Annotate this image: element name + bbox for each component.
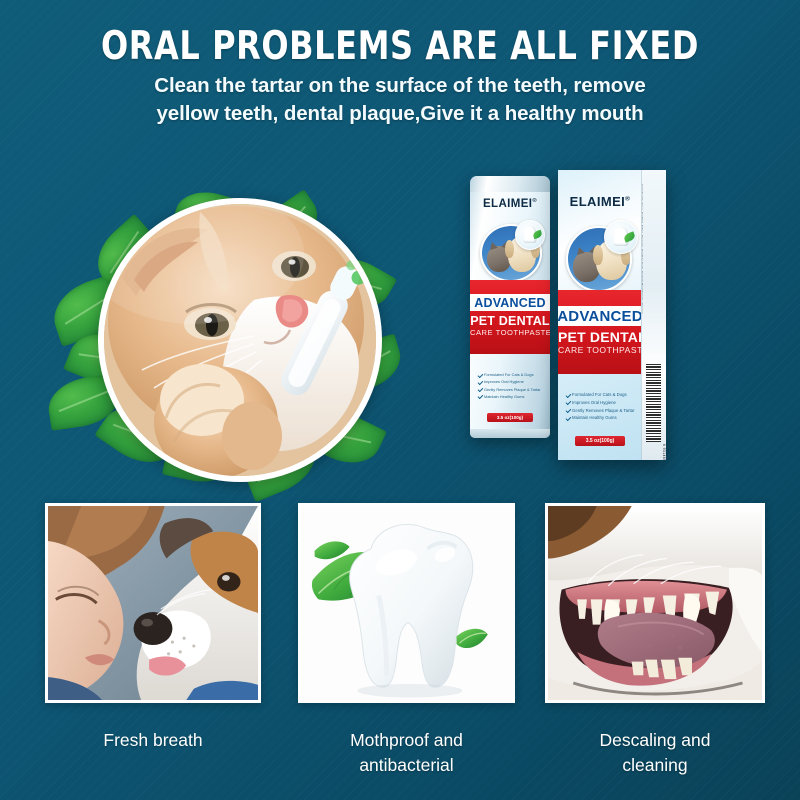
list-item: Improves Oral Hygiene bbox=[572, 400, 635, 406]
tube-benefit-list: Formulated For Cats & Dogs Improves Oral… bbox=[484, 372, 541, 401]
list-item: Gently Removes Plaque & Tartar bbox=[484, 387, 541, 392]
caption-line-1: Descaling and bbox=[600, 730, 711, 750]
box-benefit-list: Formulated For Cats & Dogs Improves Oral… bbox=[572, 392, 635, 423]
woman-and-dog-photo bbox=[48, 506, 258, 700]
box-headline: ADVANCED bbox=[558, 306, 642, 326]
cat-brushing-teeth-illustration bbox=[104, 204, 376, 476]
tube-crimp bbox=[470, 429, 550, 438]
tube-line-2: PET DENTAL bbox=[470, 314, 550, 328]
feature-panel-descaling bbox=[545, 503, 765, 703]
page-subtitle: Clean the tartar on the surface of the t… bbox=[0, 72, 800, 129]
product-marketing-image: ORAL PROBLEMS ARE ALL FIXED Clean the ta… bbox=[0, 0, 800, 800]
tube-cap bbox=[470, 176, 550, 192]
hero-cat-photo bbox=[98, 198, 382, 482]
caption-antibacterial: Mothproof and antibacterial bbox=[298, 728, 515, 778]
box-brand-logo: ELAIMEI® bbox=[558, 194, 642, 209]
page-title: ORAL PROBLEMS ARE ALL FIXED bbox=[12, 26, 788, 67]
tube-tooth-badge bbox=[515, 220, 545, 250]
tube-headline: ADVANCED bbox=[470, 294, 550, 311]
feature-panel-antibacterial bbox=[298, 503, 515, 703]
tube-brand-logo: ELAIMEI® bbox=[470, 198, 550, 210]
list-item: Improves Oral Hygiene bbox=[484, 379, 541, 384]
dog-ear-left bbox=[505, 240, 514, 258]
subtitle-line-1: Clean the tartar on the surface of the t… bbox=[0, 72, 800, 100]
tube-line-3: CARE TOOTHPASTE bbox=[470, 328, 550, 337]
subtitle-line-2: yellow teeth, dental plaque,Give it a he… bbox=[0, 100, 800, 128]
dog-ear-left bbox=[593, 245, 603, 265]
white-tooth-with-mint-leaves bbox=[301, 506, 512, 700]
caption-descaling: Descaling and cleaning bbox=[545, 728, 765, 778]
product-tube: ELAIMEI® ADVANCED PET DENTAL CARE TOOTHP… bbox=[470, 176, 550, 438]
feature-panel-fresh-breath bbox=[45, 503, 261, 703]
box-line-2: PET DENTAL bbox=[558, 329, 642, 345]
list-item: Maintain Healthy Gums bbox=[484, 394, 541, 399]
barcode-number: 6 931465 720194 bbox=[662, 444, 666, 460]
box-weight-badge: 3.5 oz(100g) bbox=[575, 436, 625, 446]
caption-line-1: Mothproof and bbox=[350, 730, 463, 750]
barcode-icon bbox=[646, 364, 661, 442]
caption-line-2: cleaning bbox=[622, 755, 687, 775]
box-side-face: Ingredients: Aqua, Sorbitol, Silica, Gly… bbox=[641, 170, 666, 460]
box-ingredients-text: Ingredients: Aqua, Sorbitol, Silica, Gly… bbox=[641, 184, 644, 334]
caption-line-1: Fresh breath bbox=[103, 730, 202, 750]
list-item: Maintain Healthy Gums bbox=[572, 415, 635, 421]
product-box: ELAIMEI® ADVANCED PET DENTAL CARE TOOTHP… bbox=[558, 170, 666, 460]
box-front-face: ELAIMEI® ADVANCED PET DENTAL CARE TOOTHP… bbox=[558, 170, 642, 460]
box-tooth-badge bbox=[604, 220, 638, 254]
caption-line-2: antibacterial bbox=[359, 755, 453, 775]
dog-open-mouth-teeth-photo bbox=[548, 506, 762, 701]
box-line-3: CARE TOOTHPASTE bbox=[558, 345, 642, 355]
tube-weight-badge: 3.5 oz(100g) bbox=[487, 413, 533, 422]
caption-fresh-breath: Fresh breath bbox=[45, 728, 261, 753]
list-item: Formulated For Cats & Dogs bbox=[484, 372, 541, 377]
list-item: Gently Removes Plaque & Tartar bbox=[572, 408, 635, 414]
list-item: Formulated For Cats & Dogs bbox=[572, 392, 635, 398]
